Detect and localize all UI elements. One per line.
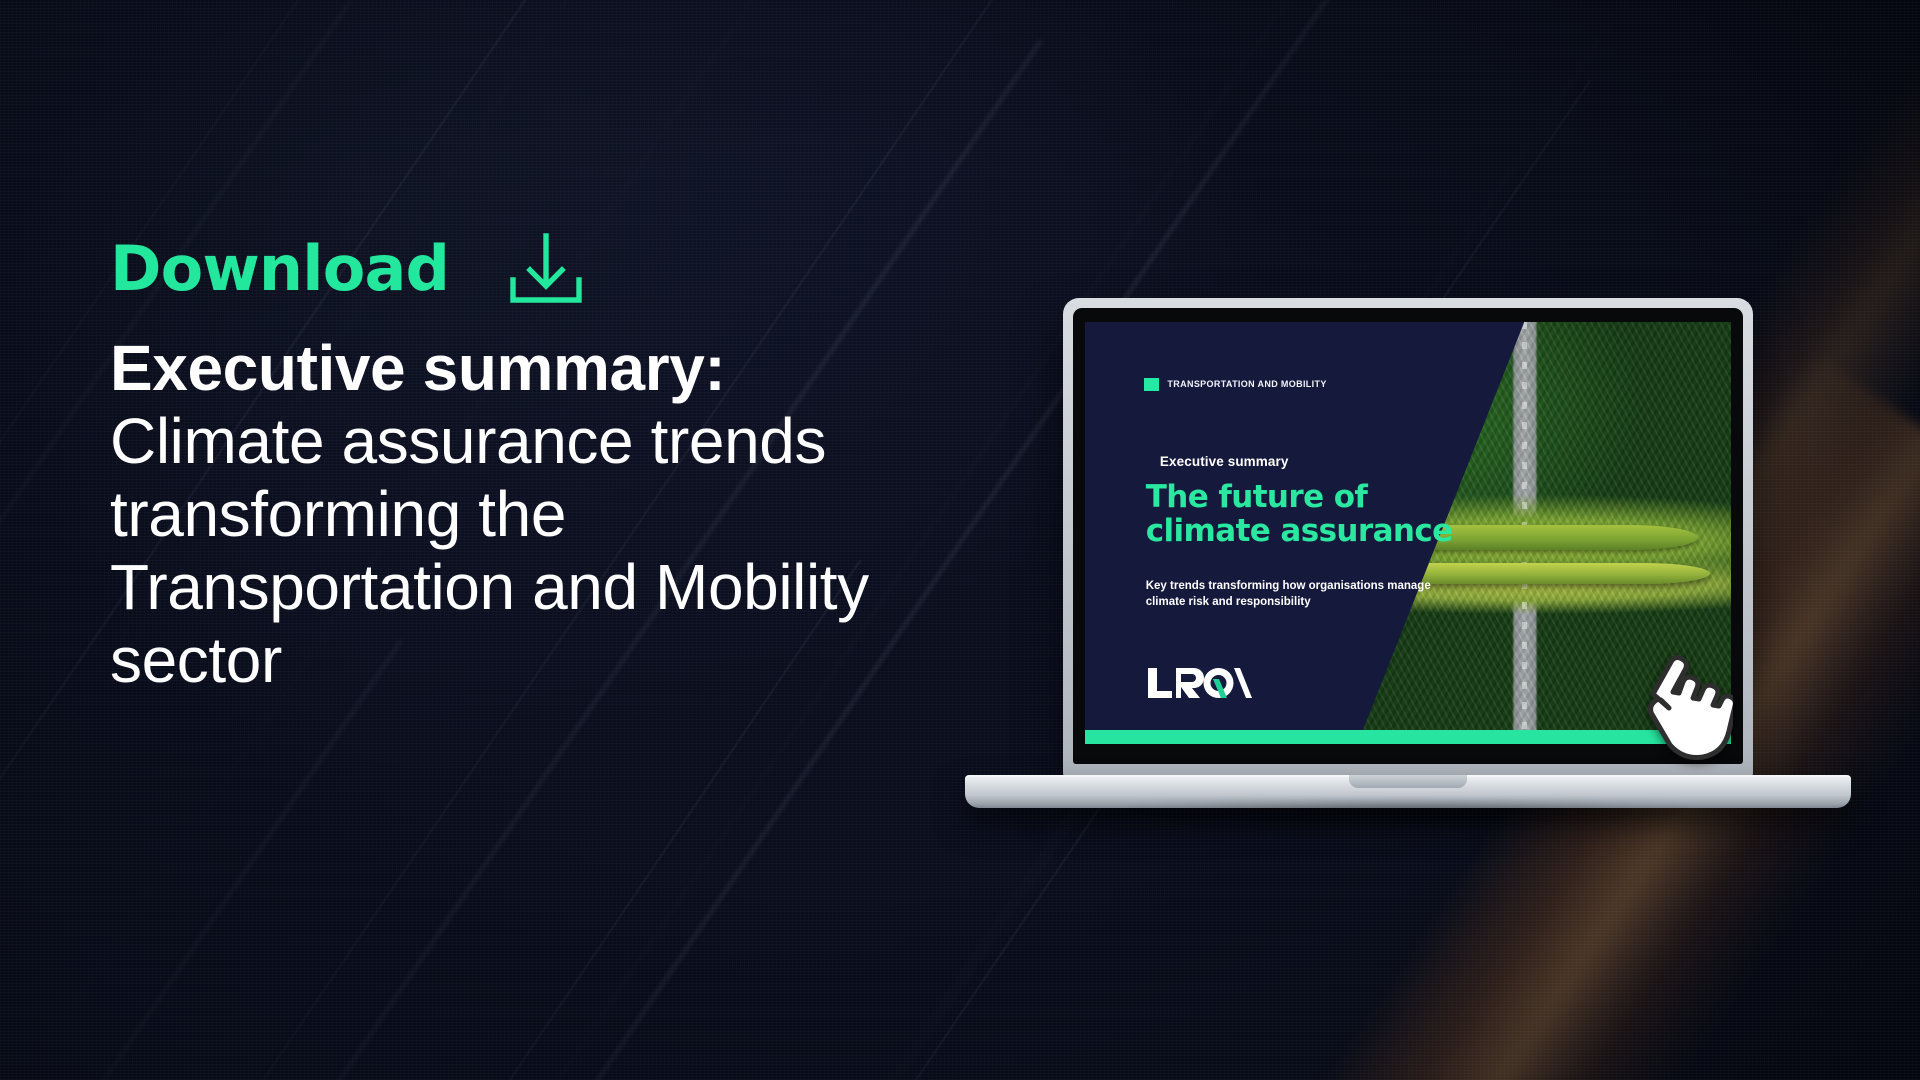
- download-tray-icon[interactable]: [507, 232, 585, 306]
- document-title: The future of climate assurance: [1146, 480, 1453, 548]
- laptop-mockup: TRANSPORTATION AND MOBILITY Executive su…: [1063, 298, 1753, 808]
- page-title: Executive summary: Climate assurance tre…: [110, 332, 970, 697]
- document-subtitle: Key trends transforming how organisation…: [1146, 579, 1521, 610]
- document-kicker-label: TRANSPORTATION AND MOBILITY: [1167, 379, 1326, 389]
- headline-rest: Climate assurance trends transforming th…: [110, 405, 869, 696]
- laptop-drop-shadow: [1008, 805, 1808, 831]
- light-streak: [0, 640, 402, 1080]
- pointing-hand-cursor[interactable]: [1641, 650, 1733, 762]
- promo-banner: Download Executive summary: Climate assu…: [0, 0, 1920, 1080]
- laptop-base-notch: [1349, 775, 1467, 788]
- lrqa-logo: [1146, 664, 1254, 700]
- light-streak: [0, 0, 71, 1080]
- teal-square-marker-icon: [1144, 378, 1159, 391]
- teal-accent-bar: [1085, 730, 1731, 744]
- document-kicker: TRANSPORTATION AND MOBILITY: [1144, 378, 1326, 391]
- laptop-base-wrap: [965, 775, 1851, 808]
- promo-text-block: Download Executive summary: Climate assu…: [110, 232, 970, 697]
- lrqa-logo-mark: [1146, 664, 1254, 700]
- headline-strong: Executive summary:: [110, 332, 725, 404]
- download-label[interactable]: Download: [110, 238, 449, 300]
- download-cta[interactable]: Download: [110, 232, 970, 306]
- document-eyebrow: Executive summary: [1160, 454, 1289, 469]
- laptop-screen[interactable]: TRANSPORTATION AND MOBILITY Executive su…: [1085, 322, 1731, 744]
